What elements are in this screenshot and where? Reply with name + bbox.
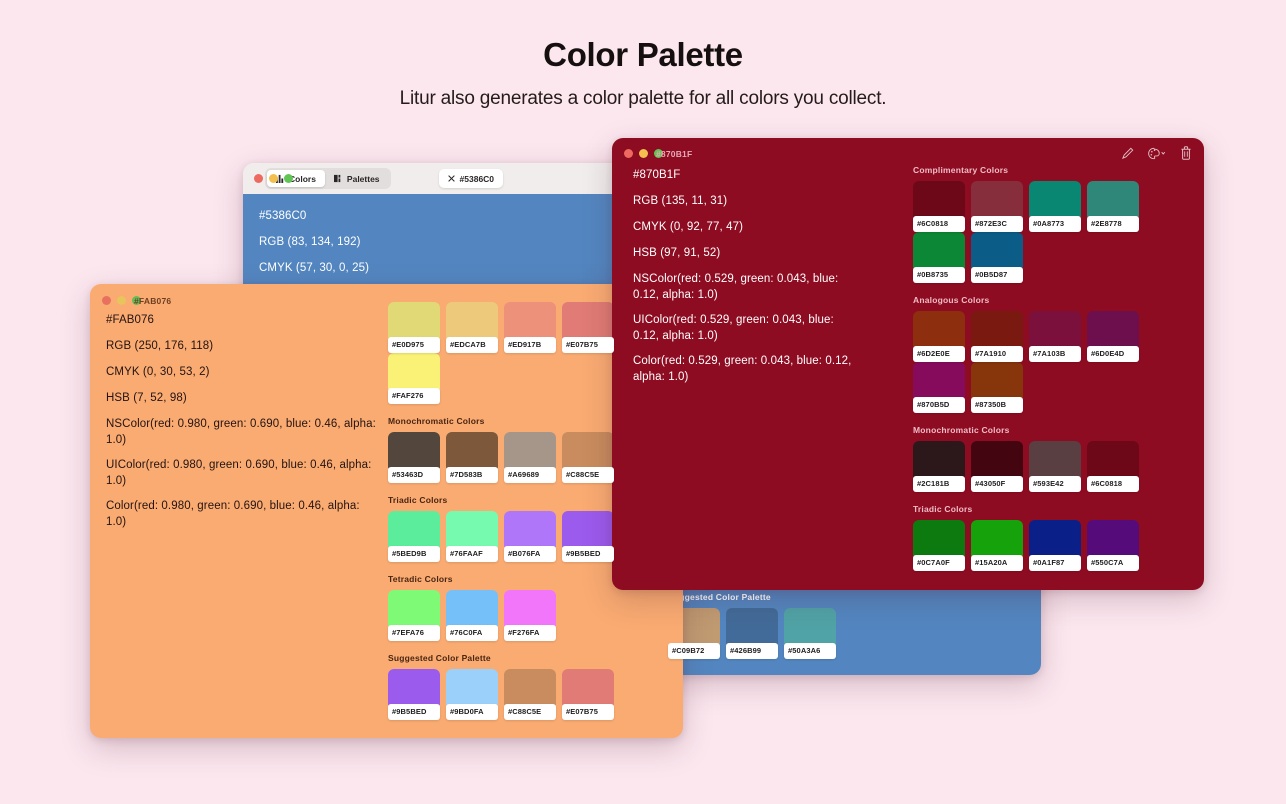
swatch-chip[interactable] (913, 520, 965, 558)
swatch-hex-label: #0C7A0F (913, 555, 965, 571)
palette-row: #7EFA76#76C0FA#F276FA (388, 590, 673, 641)
swatch-chip[interactable] (562, 511, 614, 549)
swatch-hex-label: #0B5D87 (971, 267, 1023, 283)
swatch-chip[interactable] (913, 232, 965, 270)
tab-colors-label: Colors (289, 174, 316, 184)
swatch-hex-label: #0B8735 (913, 267, 965, 283)
swatch-hex-label: #76FAAF (446, 546, 498, 562)
swatch-hex-label: #2E8778 (1087, 216, 1139, 232)
palette-row: #0C7A0F#15A20A#0A1F87#550C7A (913, 520, 1193, 571)
color-swatch[interactable]: #EDCA7B (446, 302, 504, 353)
close-button[interactable] (624, 149, 633, 158)
color-swatch[interactable]: #6D2E0E (913, 311, 971, 362)
swatch-chip[interactable] (971, 232, 1023, 270)
color-swatch[interactable]: #0B8735 (913, 232, 971, 283)
swatch-hex-label: #9BD0FA (446, 704, 498, 720)
minimize-button[interactable] (639, 149, 648, 158)
color-swatch[interactable]: #6C0818 (913, 181, 971, 232)
swatch-hex-label: #0A8773 (1029, 216, 1081, 232)
minimize-button[interactable] (269, 174, 278, 183)
swatch-hex-label: #6C0818 (1087, 476, 1139, 492)
swatch-hex-label: #50A3A6 (784, 643, 836, 659)
blue-cmyk: CMYK (57, 30, 0, 25) (259, 260, 369, 276)
swatch-hex-label: #43050F (971, 476, 1023, 492)
swatch-chip[interactable] (784, 608, 836, 646)
swatch-chip[interactable] (388, 511, 440, 549)
swatch-chip[interactable] (1029, 181, 1081, 219)
swatch-hex-label: #550C7A (1087, 555, 1139, 571)
color-swatch[interactable]: #550C7A (1087, 520, 1145, 571)
orange-color-info: #FAB076 RGB (250, 176, 118) CMYK (0, 30,… (106, 312, 378, 539)
swatch-chip[interactable] (446, 432, 498, 470)
color-swatch[interactable]: #E07B75 (562, 669, 620, 720)
swatch-hex-label: #9B5BED (388, 704, 440, 720)
swatch-hex-label: #A69689 (504, 467, 556, 483)
palette-section-title: Analogous Colors (913, 295, 1193, 305)
maximize-button[interactable] (284, 174, 293, 183)
swatch-hex-label: #593E42 (1029, 476, 1081, 492)
tab-palettes-label: Palettes (347, 174, 380, 184)
swatch-hex-label: #C88C5E (562, 467, 614, 483)
color-chip-tab[interactable]: #5386C0 (439, 169, 504, 188)
swatch-hex-label: #C09B72 (668, 643, 720, 659)
swatch-hex-label: #7D583B (446, 467, 498, 483)
swatch-hex-label: #426B99 (726, 643, 778, 659)
swatch-chip[interactable] (1087, 520, 1139, 558)
blue-rgb: RGB (83, 134, 192) (259, 234, 369, 250)
color-swatch[interactable]: #15A20A (971, 520, 1029, 571)
swatch-chip[interactable] (1029, 441, 1081, 479)
color-swatch[interactable]: #870B5D (913, 362, 971, 413)
swatch-hex-label: #7A1910 (971, 346, 1023, 362)
red-palette-panel: Complimentary Colors#6C0818#872E3C#0A877… (913, 165, 1193, 583)
color-swatch[interactable]: #6D0E4D (1087, 311, 1145, 362)
color-swatch[interactable]: #A69689 (504, 432, 562, 483)
color-swatch[interactable]: #7A103B (1029, 311, 1087, 362)
color-swatch[interactable]: #B076FA (504, 511, 562, 562)
orange-color: Color(red: 0.980, green: 0.690, blue: 0.… (106, 498, 378, 530)
trash-icon[interactable] (1180, 146, 1192, 165)
blue-suggested-section: Suggested Color Palette #C09B72#426B99#5… (668, 592, 842, 671)
red-color-info: #870B1F RGB (135, 11, 31) CMYK (0, 92, 7… (633, 167, 858, 394)
page-subtitle: Litur also generates a color palette for… (0, 88, 1286, 110)
swatch-hex-label: #FAF276 (388, 388, 440, 404)
swatch-hex-label: #53463D (388, 467, 440, 483)
swatch-chip[interactable] (562, 302, 614, 340)
red-uicolor: UIColor(red: 0.529, green: 0.043, blue: … (633, 312, 858, 344)
close-icon[interactable] (448, 175, 455, 182)
color-swatch[interactable]: #426B99 (726, 608, 784, 659)
color-swatch[interactable]: #872E3C (971, 181, 1029, 232)
orange-nscolor: NSColor(red: 0.980, green: 0.690, blue: … (106, 416, 378, 448)
color-swatch[interactable]: #9BD0FA (446, 669, 504, 720)
red-color: Color(red: 0.529, green: 0.043, blue: 0.… (633, 353, 858, 385)
swatch-hex-label: #E0D975 (388, 337, 440, 353)
color-swatch[interactable]: #7A1910 (971, 311, 1029, 362)
swatch-chip[interactable] (388, 432, 440, 470)
color-chip-label: #5386C0 (460, 174, 495, 184)
color-swatch[interactable]: #0A1F87 (1029, 520, 1087, 571)
swatch-chip[interactable] (1087, 311, 1139, 349)
color-swatch[interactable]: #7EFA76 (388, 590, 446, 641)
orange-rgb: RGB (250, 176, 118) (106, 338, 378, 354)
blue-suggested-title: Suggested Color Palette (668, 592, 842, 602)
color-swatch[interactable]: #53463D (388, 432, 446, 483)
swatch-chip[interactable] (971, 441, 1023, 479)
window-color-red[interactable]: #870B1F #870B1F RGB (135, 11, 3 (612, 138, 1204, 590)
palette-dropdown-icon[interactable] (1148, 147, 1166, 165)
swatch-chip[interactable] (446, 511, 498, 549)
color-swatch[interactable]: #9B5BED (388, 669, 446, 720)
red-nscolor: NSColor(red: 0.529, green: 0.043, blue: … (633, 271, 858, 303)
swatch-hex-label: #872E3C (971, 216, 1023, 232)
palette-icon (334, 174, 343, 183)
swatch-hex-label: #870B5D (913, 397, 965, 413)
color-swatch[interactable]: #7D583B (446, 432, 504, 483)
color-swatch[interactable]: #50A3A6 (784, 608, 842, 659)
swatch-hex-label: #9B5BED (562, 546, 614, 562)
red-hsb: HSB (97, 91, 52) (633, 245, 858, 261)
blue-hex: #5386C0 (259, 208, 369, 224)
palette-section-title: Suggested Color Palette (388, 653, 673, 663)
minimize-button[interactable] (117, 296, 126, 305)
swatch-hex-label: #6D0E4D (1087, 346, 1139, 362)
color-swatch[interactable]: #ED917B (504, 302, 562, 353)
swatch-chip[interactable] (913, 311, 965, 349)
edit-pencil-icon[interactable] (1121, 147, 1134, 165)
palette-section-title: Complimentary Colors (913, 165, 1193, 175)
swatch-hex-label: #EDCA7B (446, 337, 498, 353)
swatch-chip[interactable] (504, 511, 556, 549)
swatch-chip[interactable] (446, 669, 498, 707)
swatch-hex-label: #B076FA (504, 546, 556, 562)
swatch-chip[interactable] (504, 432, 556, 470)
red-hex: #870B1F (633, 167, 858, 183)
swatch-hex-label: #7EFA76 (388, 625, 440, 641)
window-color-orange[interactable]: #FAB076 #FAB076 RGB (250, 176, 118) CMYK… (90, 284, 683, 738)
swatch-hex-label: #E07B75 (562, 704, 614, 720)
swatch-chip[interactable] (504, 669, 556, 707)
swatch-hex-label: #15A20A (971, 555, 1023, 571)
color-swatch[interactable]: #2C181B (913, 441, 971, 492)
swatch-hex-label: #C88C5E (504, 704, 556, 720)
close-button[interactable] (102, 296, 111, 305)
swatch-hex-label: #ED917B (504, 337, 556, 353)
palette-section-title: Triadic Colors (913, 504, 1193, 514)
swatch-hex-label: #7A103B (1029, 346, 1081, 362)
swatch-chip[interactable] (388, 590, 440, 628)
palette-row: #6C0818#872E3C#0A8773#2E8778#0B8735#0B5D… (913, 181, 1193, 283)
swatch-chip[interactable] (388, 353, 440, 391)
swatch-hex-label: #2C181B (913, 476, 965, 492)
swatch-hex-label: #5BED9B (388, 546, 440, 562)
swatch-chip[interactable] (913, 181, 965, 219)
color-swatch[interactable]: #43050F (971, 441, 1029, 492)
blue-suggested-row: #C09B72#426B99#50A3A6 (668, 608, 842, 659)
swatch-hex-label: #87350B (971, 397, 1023, 413)
color-swatch[interactable]: #87350B (971, 362, 1029, 413)
color-swatch[interactable]: #5BED9B (388, 511, 446, 562)
color-swatch[interactable]: #0A8773 (1029, 181, 1087, 232)
swatch-chip[interactable] (726, 608, 778, 646)
color-swatch[interactable]: #FAF276 (388, 353, 446, 404)
orange-uicolor: UIColor(red: 0.980, green: 0.690, blue: … (106, 457, 378, 489)
swatch-chip[interactable] (1087, 181, 1139, 219)
color-swatch[interactable]: #C88C5E (504, 669, 562, 720)
red-window-caption: #870B1F (656, 149, 692, 159)
red-toolbar[interactable] (1121, 146, 1192, 165)
swatch-hex-label: #0A1F87 (1029, 555, 1081, 571)
page-title: Color Palette (0, 36, 1286, 74)
swatch-chip[interactable] (1029, 520, 1081, 558)
tab-palettes[interactable]: Palettes (325, 170, 389, 187)
swatch-chip[interactable] (504, 590, 556, 628)
swatch-chip[interactable] (562, 432, 614, 470)
color-swatch[interactable]: #2E8778 (1087, 181, 1145, 232)
swatch-hex-label: #E07B75 (562, 337, 614, 353)
color-swatch[interactable]: #593E42 (1029, 441, 1087, 492)
orange-hex: #FAB076 (106, 312, 378, 328)
swatch-hex-label: #76C0FA (446, 625, 498, 641)
palette-row: #9B5BED#9BD0FA#C88C5E#E07B75 (388, 669, 673, 720)
swatch-chip[interactable] (1029, 311, 1081, 349)
close-button[interactable] (254, 174, 263, 183)
swatch-chip[interactable] (388, 302, 440, 340)
swatch-hex-label: #F276FA (504, 625, 556, 641)
swatch-chip[interactable] (913, 441, 965, 479)
color-swatch[interactable]: #76C0FA (446, 590, 504, 641)
swatch-chip[interactable] (446, 590, 498, 628)
color-swatch[interactable]: #F276FA (504, 590, 562, 641)
swatch-chip[interactable] (971, 520, 1023, 558)
red-rgb: RGB (135, 11, 31) (633, 193, 858, 209)
orange-hsb: HSB (7, 52, 98) (106, 390, 378, 406)
swatch-hex-label: #6D2E0E (913, 346, 965, 362)
traffic-lights[interactable] (254, 174, 293, 183)
color-swatch[interactable]: #E0D975 (388, 302, 446, 353)
palette-row: #2C181B#43050F#593E42#6C0818 (913, 441, 1193, 492)
red-cmyk: CMYK (0, 92, 77, 47) (633, 219, 858, 235)
color-swatch[interactable]: #76FAAF (446, 511, 504, 562)
swatch-chip[interactable] (562, 669, 614, 707)
palette-row: #6D2E0E#7A1910#7A103B#6D0E4D#870B5D#8735… (913, 311, 1193, 413)
palette-section-title: Monochromatic Colors (913, 425, 1193, 435)
swatch-chip[interactable] (388, 669, 440, 707)
swatch-chip[interactable] (913, 362, 965, 400)
swatch-chip[interactable] (504, 302, 556, 340)
swatch-chip[interactable] (971, 181, 1023, 219)
color-swatch[interactable]: #0B5D87 (971, 232, 1029, 283)
color-swatch[interactable]: #0C7A0F (913, 520, 971, 571)
swatch-chip[interactable] (1087, 441, 1139, 479)
swatch-chip[interactable] (446, 302, 498, 340)
swatch-hex-label: #6C0818 (913, 216, 965, 232)
color-swatch[interactable]: #6C0818 (1087, 441, 1145, 492)
orange-cmyk: CMYK (0, 30, 53, 2) (106, 364, 378, 380)
screen: Color Palette Litur also generates a col… (0, 0, 1286, 804)
swatch-chip[interactable] (971, 362, 1023, 400)
orange-window-caption: #FAB076 (134, 296, 171, 306)
swatch-chip[interactable] (971, 311, 1023, 349)
